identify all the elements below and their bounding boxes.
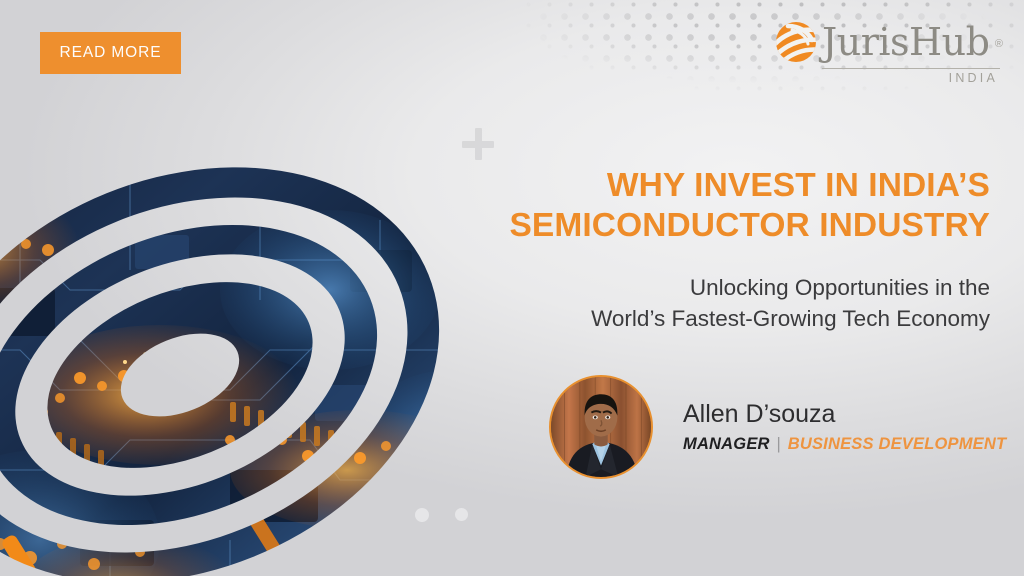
presenter-text: Allen D’souza MANAGER | BUSINESS DEVELOP… xyxy=(683,397,1006,457)
presenter-role-secondary: BUSINESS DEVELOPMENT xyxy=(788,435,1007,453)
subheadline: Unlocking Opportunities in the World’s F… xyxy=(390,272,990,334)
brand-logo[interactable]: JurisHub ® INDIA xyxy=(774,20,1000,82)
presenter-block: Allen D’souza MANAGER | BUSINESS DEVELOP… xyxy=(549,372,999,482)
logo-sublabel: INDIA xyxy=(774,71,1000,85)
logo-wordmark-text: JurisHub xyxy=(822,20,989,64)
headline-line-1: WHY INVEST IN INDIA’S xyxy=(607,167,990,204)
globe-swirl-icon xyxy=(774,20,818,64)
promo-banner: READ MORE xyxy=(0,0,1024,576)
headline: WHY INVEST IN INDIA’S SEMICONDUCTOR INDU… xyxy=(390,166,990,246)
subheadline-line-1: Unlocking Opportunities in the xyxy=(690,275,990,300)
registered-trademark-icon: ® xyxy=(995,22,1003,66)
subheadline-line-2: World’s Fastest-Growing Tech Economy xyxy=(591,306,990,331)
presenter-role-primary: MANAGER xyxy=(683,435,770,453)
avatar xyxy=(549,375,653,479)
logo-wordmark: JurisHub ® xyxy=(822,20,989,64)
presenter-name: Allen D’souza xyxy=(683,397,1006,431)
headline-line-2: SEMICONDUCTOR INDUSTRY xyxy=(390,206,990,246)
presenter-role: MANAGER | BUSINESS DEVELOPMENT xyxy=(683,431,1006,457)
read-more-button[interactable]: READ MORE xyxy=(40,32,181,74)
presenter-role-separator: | xyxy=(774,435,783,453)
logo-divider xyxy=(822,68,1000,69)
